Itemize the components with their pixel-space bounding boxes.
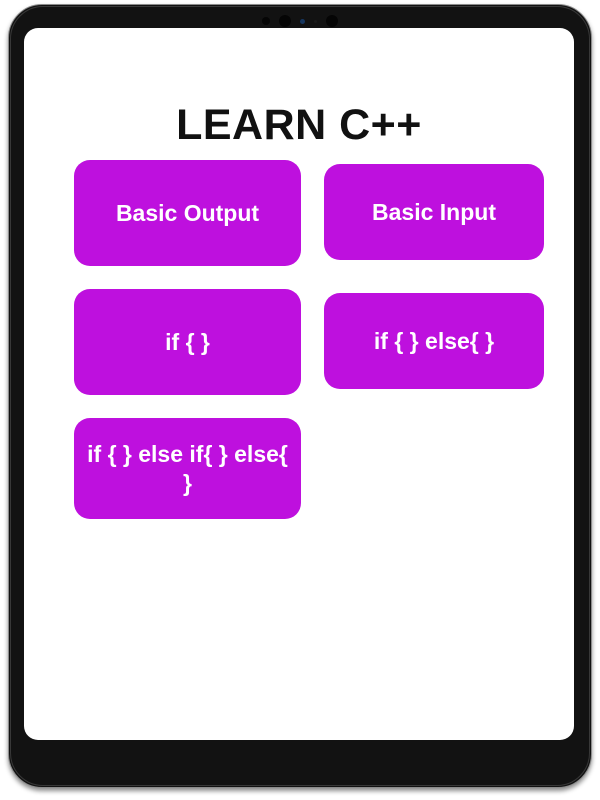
topic-button-basic-input[interactable]: Basic Input: [324, 164, 544, 260]
topic-button-if-block[interactable]: if { }: [74, 289, 301, 395]
topic-button-label: if { } else if{ } else{ }: [84, 440, 291, 496]
topic-button-row-3: if { } else if{ } else{ }: [74, 418, 546, 519]
ambient-light-sensor-dot: [326, 15, 338, 27]
tablet-screen: LEARN C++ Basic Output Basic Input if { …: [24, 28, 574, 740]
topic-button-row-2: if { } if { } else{ }: [74, 289, 546, 395]
proximity-sensor-dot: [262, 17, 270, 25]
topic-button-if-else[interactable]: if { } else{ }: [324, 293, 544, 389]
front-camera-dot: [279, 15, 291, 27]
topic-button-label: Basic Input: [372, 198, 496, 226]
topic-button-grid: Basic Output Basic Input if { } if { } e…: [74, 160, 546, 542]
sensor-cluster: [262, 14, 338, 28]
topic-button-label: Basic Output: [116, 199, 259, 227]
topic-button-row-1: Basic Output Basic Input: [74, 160, 546, 266]
status-led-dot: [300, 19, 305, 24]
topic-button-label: if { }: [165, 328, 210, 356]
tablet-device-frame: LEARN C++ Basic Output Basic Input if { …: [8, 4, 592, 788]
app-content: LEARN C++ Basic Output Basic Input if { …: [24, 28, 574, 740]
microphone-dot: [314, 20, 317, 23]
topic-button-label: if { } else{ }: [374, 327, 494, 355]
page-title: LEARN C++: [24, 101, 574, 150]
topic-button-if-else-if-else[interactable]: if { } else if{ } else{ }: [74, 418, 301, 519]
topic-button-basic-output[interactable]: Basic Output: [74, 160, 301, 266]
